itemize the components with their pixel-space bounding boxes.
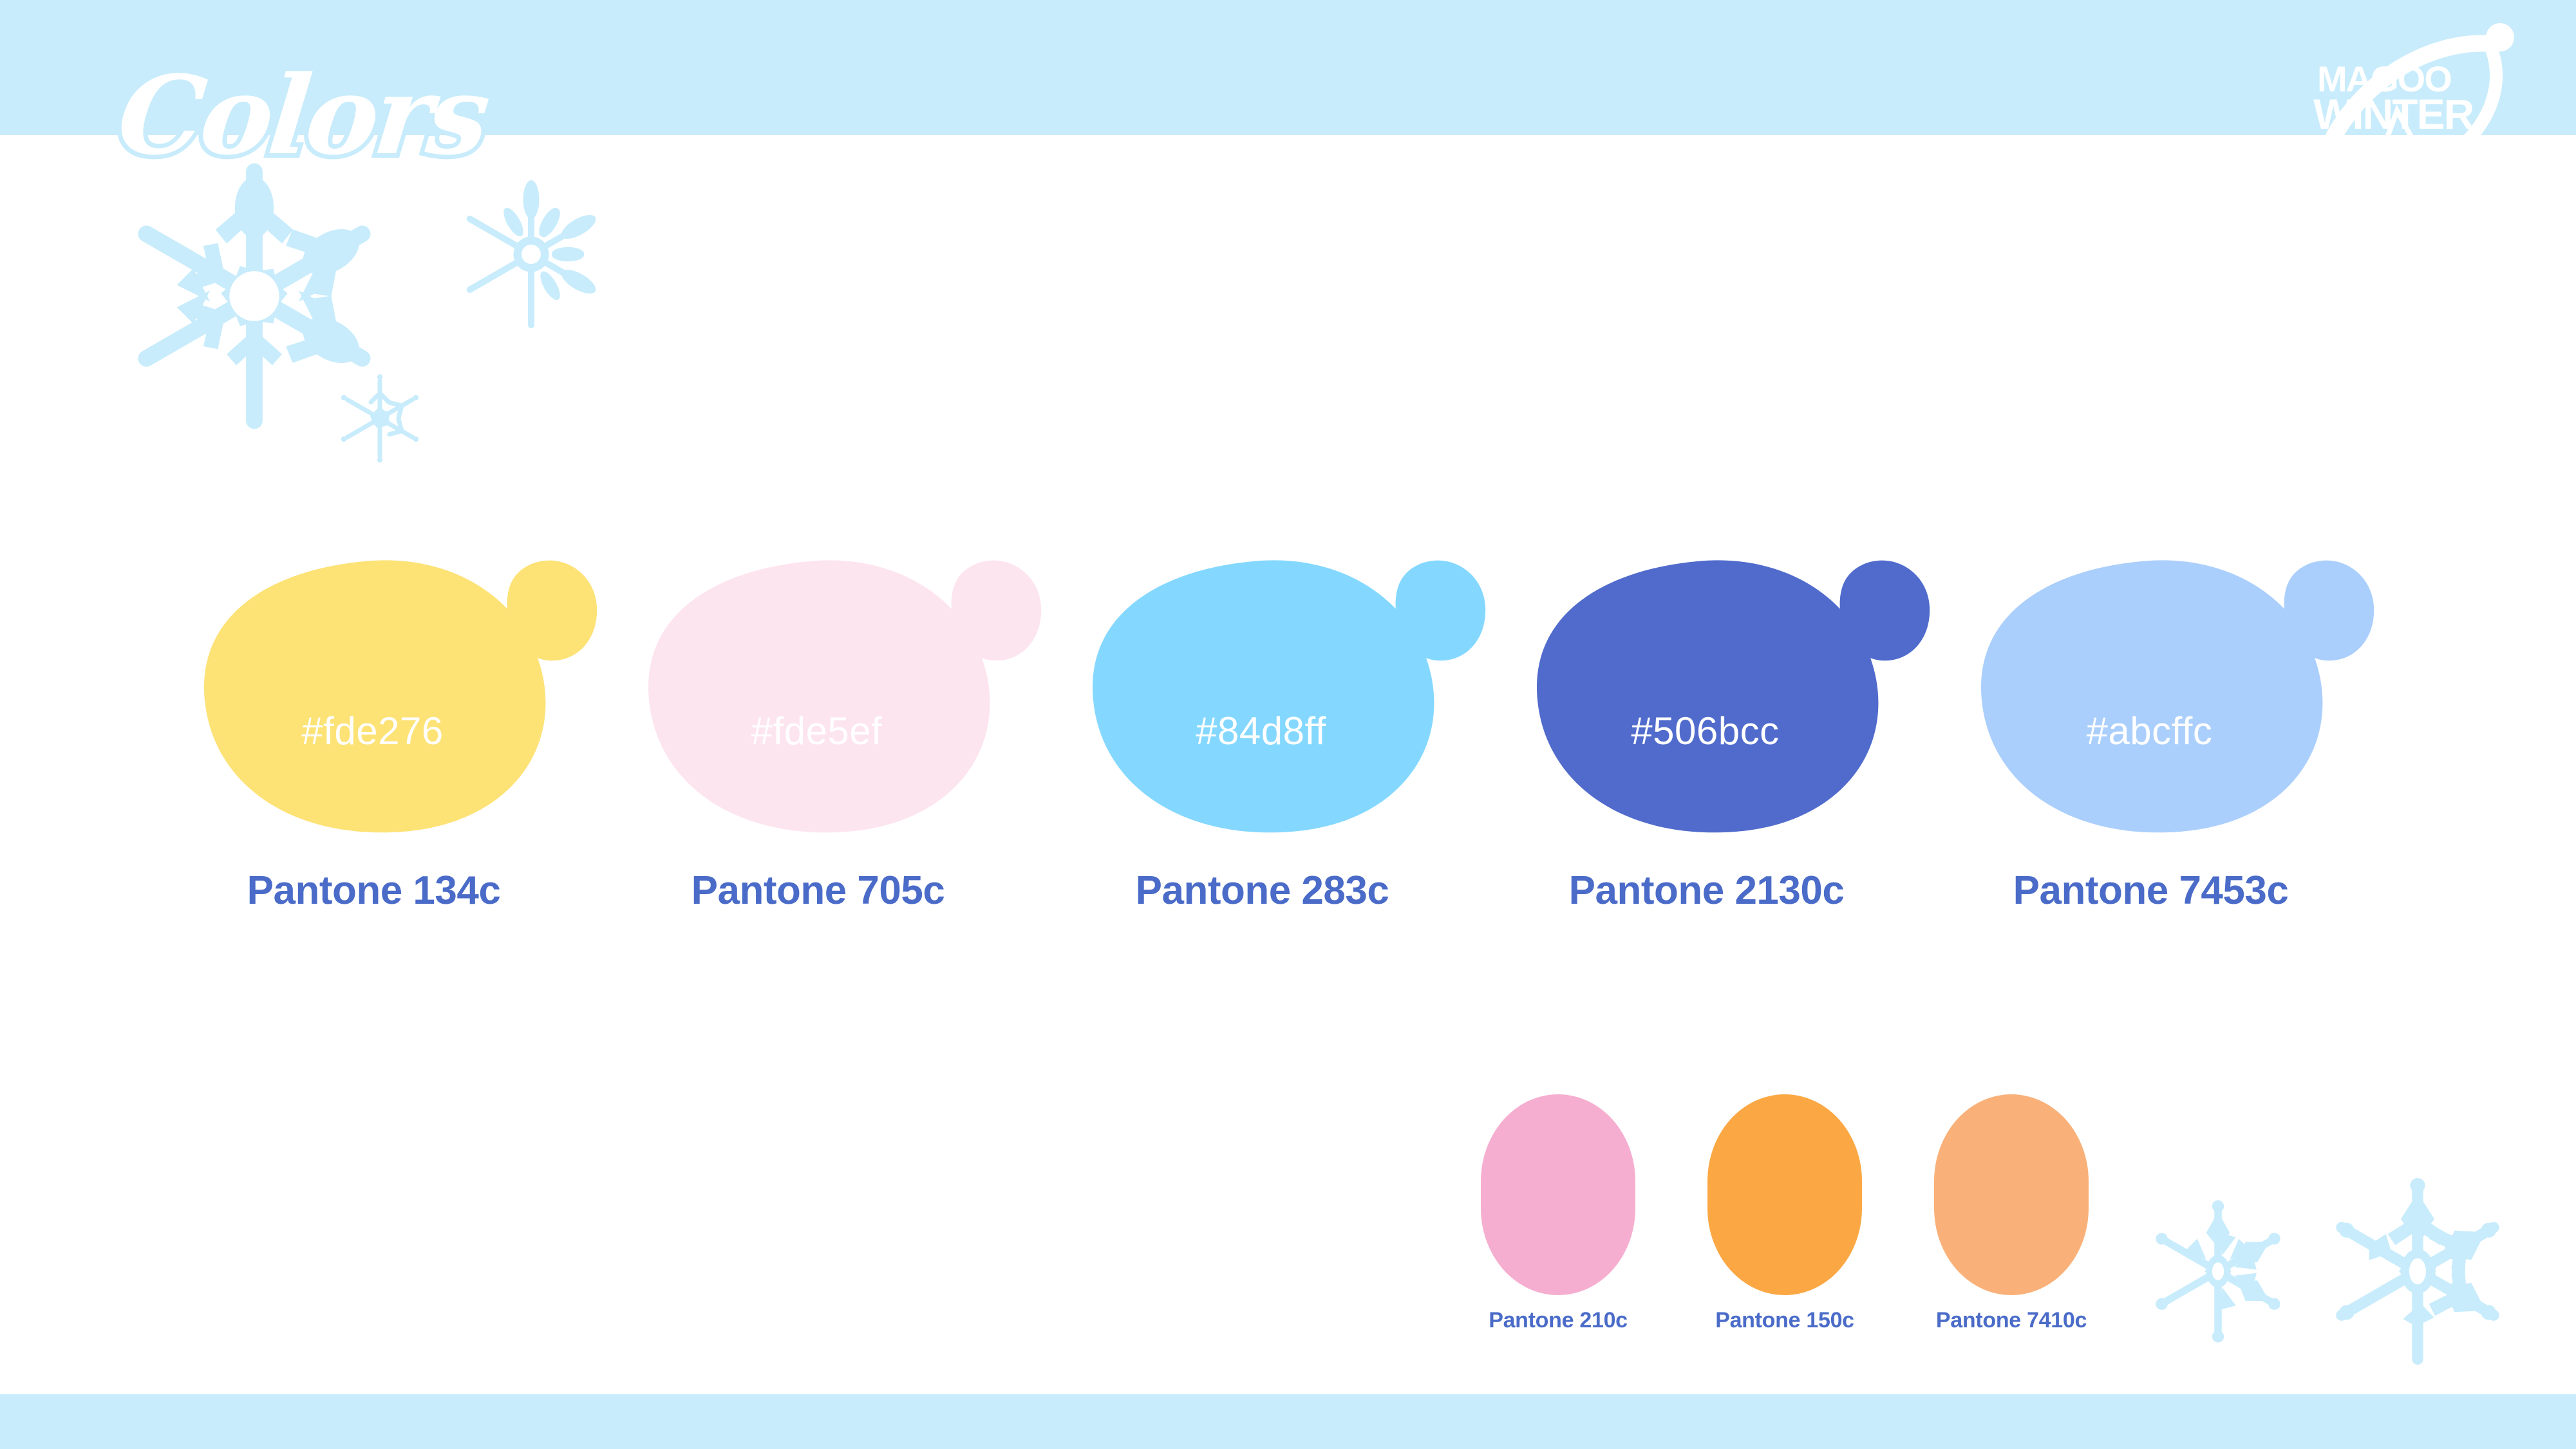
accent-swatch-shape (1934, 1094, 2089, 1295)
accent-swatch[interactable]: Pantone 7410c (1934, 1094, 2089, 1333)
swatch-pantone-label: Pantone 2130c (1569, 868, 1845, 913)
swatch-blob: #fde5ef (622, 534, 1066, 856)
snowflake-corner-2-icon (2324, 1178, 2511, 1365)
accent-color-swatch-row: Pantone 210c Pantone 150c Pantone 7410c (1481, 1094, 2089, 1333)
color-swatch[interactable]: #abcffc Pantone 7453c (1955, 534, 2399, 946)
top-decorative-band (0, 0, 2576, 135)
blob-shape-icon (622, 534, 1066, 856)
color-swatch[interactable]: #84d8ff Pantone 283c (1066, 534, 1510, 946)
blob-shape-icon (178, 534, 622, 856)
swatch-blob: #abcffc (1955, 534, 2399, 856)
swatch-pantone-label: Pantone 7453c (2013, 868, 2289, 913)
color-swatch[interactable]: #fde276 Pantone 134c (178, 534, 622, 946)
swatch-blob: #506bcc (1510, 534, 1955, 856)
primary-color-swatch-row: #fde276 Pantone 134c #fde5ef Pantone 705… (0, 534, 2576, 946)
blob-shape-icon (1066, 534, 1510, 856)
accent-swatch-label: Pantone 150c (1715, 1308, 1854, 1333)
accent-swatch-shape (1707, 1094, 1862, 1295)
brand-logo: MAGOO WINTER (2299, 13, 2557, 193)
slide-canvas: Colors Colors MAGOO WINTER #fde276 Panto… (0, 0, 2576, 1449)
snowflake-medium-icon (451, 174, 612, 335)
blob-shape-icon (1510, 534, 1955, 856)
swatch-pantone-label: Pantone 134c (247, 868, 501, 913)
accent-swatch-shape (1481, 1094, 1635, 1295)
accent-swatch-label: Pantone 210c (1489, 1308, 1628, 1333)
logo-line-2: WINTER (2313, 90, 2474, 138)
swatch-blob: #84d8ff (1066, 534, 1510, 856)
swatch-pantone-label: Pantone 283c (1136, 868, 1389, 913)
snowflake-corner-1-icon (2144, 1197, 2292, 1345)
blob-shape-icon (1955, 534, 2399, 856)
accent-swatch[interactable]: Pantone 210c (1481, 1094, 1635, 1333)
color-swatch[interactable]: #506bcc Pantone 2130c (1510, 534, 1955, 946)
accent-swatch-label: Pantone 7410c (1936, 1308, 2087, 1333)
swatch-blob: #fde276 (178, 534, 622, 856)
swatch-pantone-label: Pantone 705c (691, 868, 945, 913)
accent-swatch[interactable]: Pantone 150c (1707, 1094, 1862, 1333)
bottom-decorative-band (0, 1394, 2576, 1449)
snowflake-small-icon (335, 373, 425, 463)
color-swatch[interactable]: #fde5ef Pantone 705c (622, 534, 1066, 946)
